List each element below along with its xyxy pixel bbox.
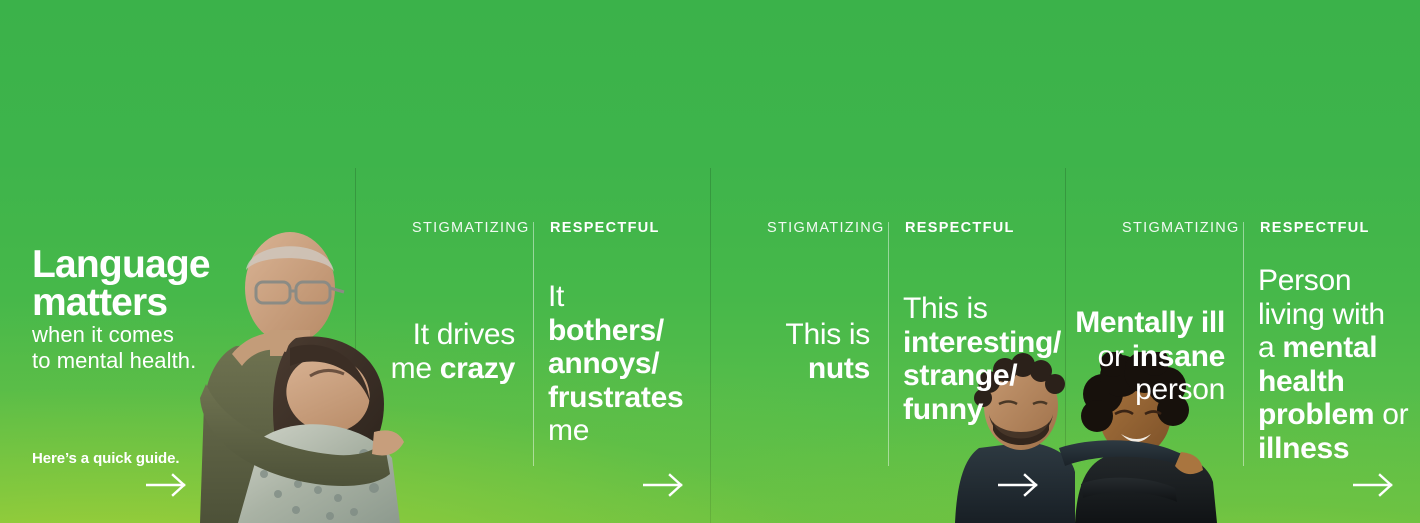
phrase-line: annoys/ bbox=[548, 347, 659, 380]
panel-nuts[interactable]: STIGMATIZING RESPECTFUL This is nuts Thi… bbox=[710, 0, 1065, 523]
phrase-line: nuts bbox=[808, 352, 870, 385]
phrase-line: me bbox=[391, 352, 440, 385]
page-title-line2: matters bbox=[32, 281, 167, 324]
phrase-line: or bbox=[1098, 340, 1132, 373]
phrase-line: a bbox=[1258, 331, 1282, 364]
phrase-line: me bbox=[548, 414, 589, 447]
phrase-stigmatizing-crazy: It drives me crazy bbox=[355, 318, 515, 385]
phrase-line-emphasis: mental bbox=[1282, 331, 1377, 364]
phrase-line: This is bbox=[903, 292, 988, 325]
phrase-line: illness bbox=[1258, 432, 1349, 465]
phrase-line: funny bbox=[903, 393, 983, 426]
label-stigmatizing: STIGMATIZING bbox=[1122, 221, 1240, 236]
page-subtitle: when it comes to mental health. bbox=[32, 322, 196, 374]
page-title: Language matters bbox=[32, 246, 210, 322]
phrase-line: It bbox=[548, 280, 564, 313]
arrow-right-icon[interactable] bbox=[643, 472, 685, 498]
phrase-stigmatizing-nuts: This is nuts bbox=[710, 318, 870, 385]
phrase-line-emphasis: crazy bbox=[440, 352, 515, 385]
panel-crazy[interactable]: STIGMATIZING RESPECTFUL It drives me cra… bbox=[355, 0, 710, 523]
page-subtitle-line2: to mental health. bbox=[32, 348, 196, 373]
phrase-respectful-person-living-with: Person living with a mental health probl… bbox=[1258, 264, 1420, 466]
phrase-line: This is bbox=[785, 318, 870, 351]
phrase-stigmatizing-mentally-ill: Mentally ill or insane person bbox=[1015, 306, 1225, 407]
phrase-line: problem bbox=[1258, 398, 1382, 431]
page-subtitle-line1: when it comes bbox=[32, 322, 174, 347]
phrase-line: living with bbox=[1258, 298, 1385, 331]
phrase-line: Mentally ill bbox=[1075, 306, 1225, 339]
intro-panel[interactable]: Language matters when it comes to mental… bbox=[0, 0, 355, 523]
intro-cta-text: Here’s a quick guide. bbox=[32, 450, 179, 467]
phrase-line: frustrates bbox=[548, 381, 683, 414]
language-matters-banner: Language matters when it comes to mental… bbox=[0, 0, 1420, 523]
label-respectful: RESPECTFUL bbox=[550, 221, 660, 236]
phrase-line-emphasis: insane bbox=[1132, 340, 1225, 373]
arrow-right-icon[interactable] bbox=[1353, 472, 1395, 498]
phrase-respectful-bothers: It bothers/ annoys/ frustrates me bbox=[548, 280, 710, 448]
arrow-right-icon[interactable] bbox=[146, 472, 188, 498]
phrase-line: bothers/ bbox=[548, 314, 664, 347]
phrase-line: person bbox=[1135, 373, 1225, 406]
phrase-line: It drives bbox=[413, 318, 515, 351]
phrase-line: strange/ bbox=[903, 359, 1017, 392]
label-respectful: RESPECTFUL bbox=[1260, 221, 1370, 236]
label-stigmatizing: STIGMATIZING bbox=[412, 221, 530, 236]
label-respectful: RESPECTFUL bbox=[905, 221, 1015, 236]
page-title-line1: Language bbox=[32, 243, 210, 286]
phrase-line-emphasis: or bbox=[1382, 398, 1408, 431]
arrow-right-icon[interactable] bbox=[998, 472, 1040, 498]
panel-mentally-ill[interactable]: STIGMATIZING RESPECTFUL Mentally ill or … bbox=[1065, 0, 1420, 523]
label-stigmatizing: STIGMATIZING bbox=[767, 221, 885, 236]
phrase-line: Person bbox=[1258, 264, 1351, 297]
phrase-line: health bbox=[1258, 365, 1345, 398]
